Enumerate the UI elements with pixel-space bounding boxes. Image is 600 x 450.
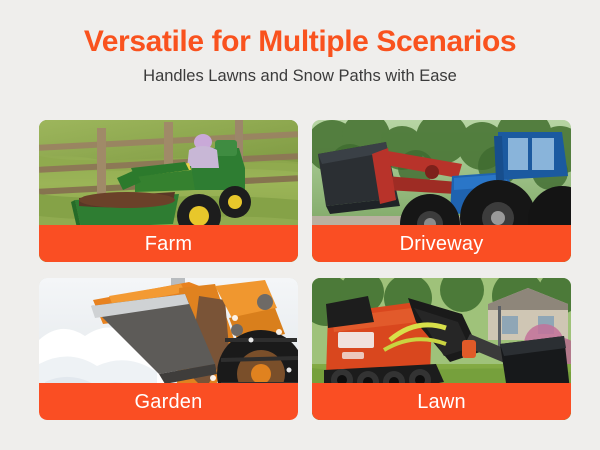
driveway-label: Driveway (400, 234, 484, 254)
garden-label: Garden (135, 392, 203, 412)
page-subtitle: Handles Lawns and Snow Paths with Ease (0, 67, 600, 87)
scenario-card-garden[interactable]: Garden (39, 278, 298, 420)
driveway-label-bar: Driveway (312, 225, 571, 262)
garden-label-bar: Garden (39, 383, 298, 420)
scenario-card-lawn[interactable]: Lawn (312, 278, 571, 420)
scenario-card-driveway[interactable]: Driveway (312, 120, 571, 262)
scenario-card-grid: Farm (39, 120, 562, 420)
page-title: Versatile for Multiple Scenarios (0, 26, 600, 58)
farm-label-bar: Farm (39, 225, 298, 262)
header: Versatile for Multiple Scenarios Handles… (0, 0, 600, 86)
farm-label: Farm (145, 234, 192, 254)
lawn-label-bar: Lawn (312, 383, 571, 420)
lawn-label: Lawn (417, 392, 466, 412)
promo-banner: Versatile for Multiple Scenarios Handles… (0, 0, 600, 450)
scenario-card-farm[interactable]: Farm (39, 120, 298, 262)
